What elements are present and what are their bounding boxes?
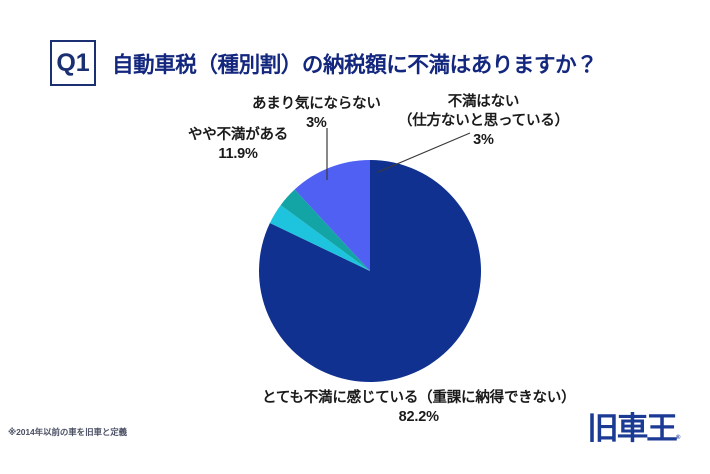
slide-root: Q1 自動車税（種別割）の納税額に不満はありますか？ やや不満がある 11.9%… [0, 0, 710, 474]
brand-logo: 旧車王 ® [588, 414, 680, 445]
pie-slice-group [259, 160, 481, 382]
brand-logo-text: 旧車王 [587, 414, 676, 445]
slice-label-amari-ki-pct: 3% [252, 114, 381, 133]
page-title: 自動車税（種別割）の納税額に不満はありますか？ [112, 48, 597, 79]
slice-label-fuman-nai-name: 不満はない [448, 94, 520, 110]
pie-slice [295, 160, 370, 271]
slice-label-yaya-fuman-pct: 11.9% [188, 145, 288, 164]
question-number-label: Q1 [56, 51, 89, 76]
header: Q1 自動車税（種別割）の納税額に不満はありますか？ [50, 40, 597, 86]
slice-label-totemo-fuman: とても不満に感じている（重課に納得できない） 82.2% [262, 389, 575, 427]
registered-trademark-icon: ® [676, 435, 680, 441]
question-number-badge: Q1 [50, 40, 96, 86]
slice-label-amari-ki-name: あまり気にならない [252, 96, 381, 112]
slice-label-totemo-fuman-name: とても不満に感じている（重課に納得できない） [262, 390, 575, 406]
slice-label-fuman-nai: 不満はない （仕方ないと思っている） 3% [398, 93, 569, 150]
pie-slice [259, 160, 481, 382]
slice-label-amari-ki: あまり気にならない 3% [252, 95, 381, 133]
footnote: ※2014年以前の車を旧車と定義 [8, 426, 127, 438]
slice-label-fuman-nai-pct: 3% [398, 131, 569, 150]
pie-slice [270, 205, 370, 271]
pie-slice [281, 190, 370, 271]
slice-label-totemo-fuman-pct: 82.2% [262, 408, 575, 427]
slice-label-fuman-nai-name2: （仕方ないと思っている） [398, 112, 569, 131]
